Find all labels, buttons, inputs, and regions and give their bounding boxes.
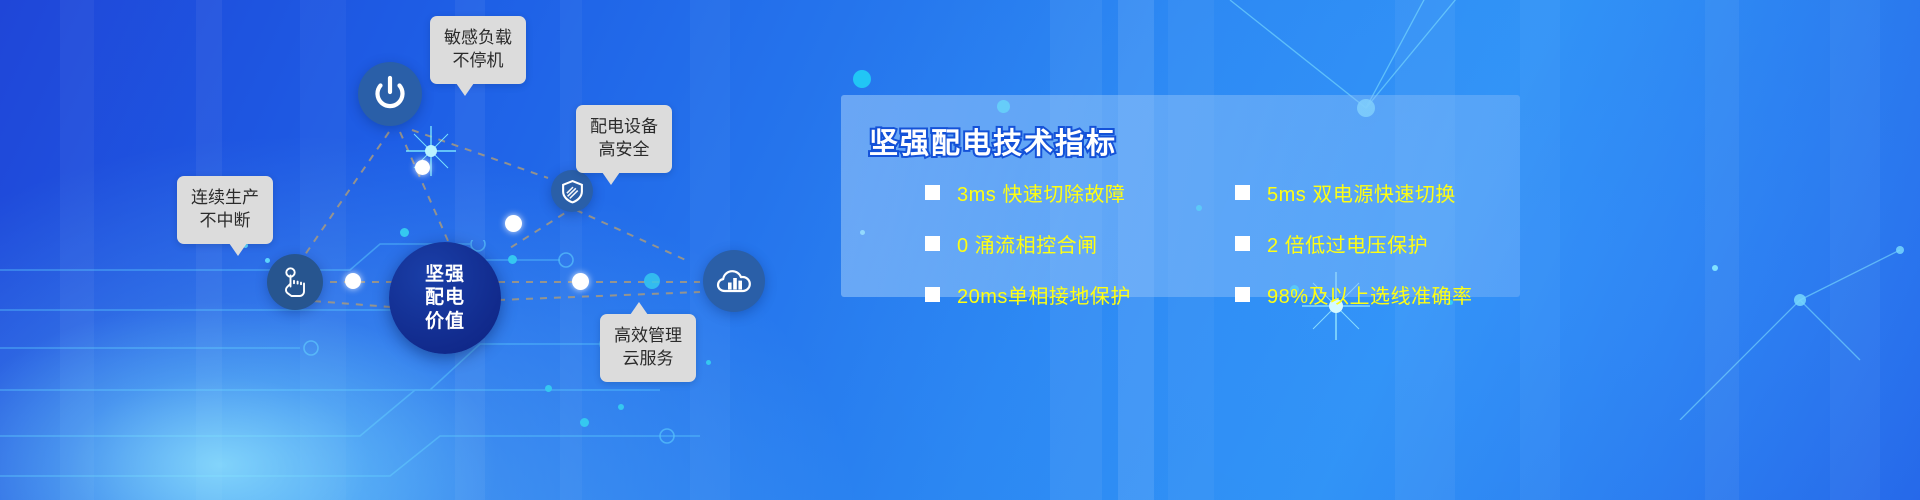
- spec-item-grid: 3ms 快速切除故障 5ms 双电源快速切换 0 涌流相控合闸 2 倍低过电压保…: [925, 178, 1535, 309]
- center-node-line-3: 价值: [425, 310, 465, 333]
- callout-line: 不停机: [444, 50, 512, 73]
- bullet-square-icon: [925, 185, 940, 200]
- callout-line: 高效管理: [614, 325, 682, 348]
- callout-equipment-safety: 配电设备 高安全: [576, 105, 672, 173]
- node-touch[interactable]: [267, 254, 323, 310]
- center-node-line-2: 配电: [425, 286, 465, 309]
- center-node-value: 坚强 配电 价值: [389, 242, 501, 354]
- callout-continuous-production: 连续生产 不中断: [177, 176, 273, 244]
- spec-item: 0 涌流相控合闸: [925, 229, 1215, 258]
- spec-item-label: 3ms 快速切除故障: [957, 178, 1125, 207]
- callout-line: 配电设备: [590, 116, 658, 139]
- spec-panel-title: 坚强配电技术指标: [869, 120, 1117, 162]
- spec-item: 3ms 快速切除故障: [925, 178, 1215, 207]
- link-dot-cyan: [644, 273, 660, 289]
- link-dot: [415, 160, 430, 175]
- node-power[interactable]: [358, 62, 422, 126]
- spec-item: 2 倍低过电压保护: [1235, 229, 1525, 258]
- link-dot: [345, 273, 361, 289]
- spec-item: 98%及以上选线准确率: [1235, 280, 1525, 309]
- callout-line: 云服务: [614, 348, 682, 371]
- spec-item: 20ms单相接地保护: [925, 280, 1215, 309]
- callout-sensitive-load: 敏感负载 不停机: [430, 16, 526, 84]
- bullet-square-icon: [925, 236, 940, 251]
- spec-item-label: 20ms单相接地保护: [957, 280, 1131, 309]
- callout-cloud-management: 高效管理 云服务: [600, 314, 696, 382]
- bullet-square-icon: [925, 287, 940, 302]
- bullet-square-icon: [1235, 236, 1250, 251]
- link-dot-cyan: [400, 228, 409, 237]
- bullet-square-icon: [1235, 287, 1250, 302]
- node-cloud-analytics[interactable]: [703, 250, 765, 312]
- promotional-banner: 坚强 配电 价值 敏感负载 不停机 配电设备 高安全 连续生产 不中断 高效管理…: [0, 0, 1920, 500]
- callout-line: 高安全: [590, 139, 658, 162]
- bullet-square-icon: [1235, 185, 1250, 200]
- spec-item-label: 98%及以上选线准确率: [1267, 280, 1473, 309]
- callout-line: 不中断: [191, 210, 259, 233]
- link-dot: [505, 215, 522, 232]
- center-node-line-1: 坚强: [425, 263, 465, 286]
- spec-item: 5ms 双电源快速切换: [1235, 178, 1525, 207]
- spec-item-label: 2 倍低过电压保护: [1267, 229, 1428, 258]
- callout-line: 敏感负载: [444, 27, 512, 50]
- cloud-chart-icon: [714, 261, 754, 301]
- shield-icon: [560, 179, 585, 204]
- spec-item-label: 0 涌流相控合闸: [957, 229, 1098, 258]
- touch-hand-icon: [279, 266, 311, 298]
- link-dot: [572, 273, 589, 290]
- spec-item-label: 5ms 双电源快速切换: [1267, 178, 1456, 207]
- callout-line: 连续生产: [191, 187, 259, 210]
- power-icon: [371, 75, 409, 113]
- node-shield[interactable]: [551, 170, 593, 212]
